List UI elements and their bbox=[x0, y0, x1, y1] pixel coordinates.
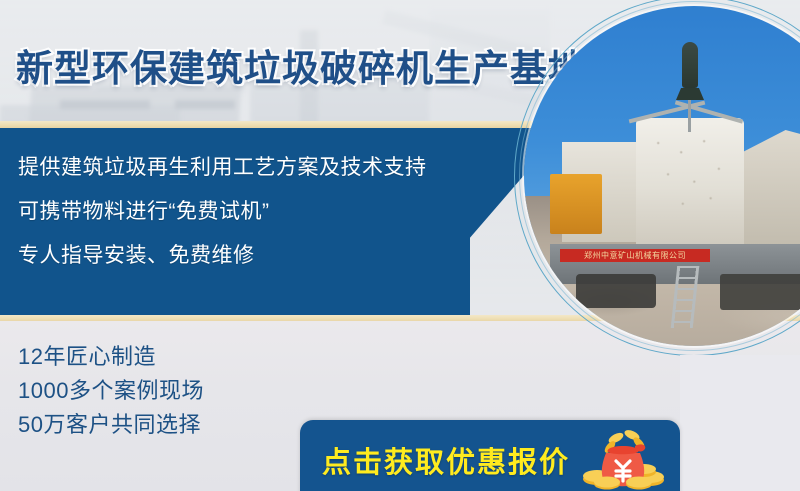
subtitle-line-2: 可携带物料进行“免费试机” bbox=[18, 190, 538, 234]
feature-line-3: 50万客户共同选择 bbox=[18, 408, 204, 442]
feature-list: 12年匠心制造 1000多个案例现场 50万客户共同选择 bbox=[18, 340, 204, 442]
get-quote-button-label: 点击获取优惠报价 bbox=[322, 439, 570, 481]
machine-mast bbox=[688, 98, 691, 132]
money-bag-icon bbox=[580, 429, 666, 491]
subtitle-list: 提供建筑垃圾再生利用工艺方案及技术支持 可携带物料进行“免费试机” 专人指导安装… bbox=[18, 146, 538, 278]
product-photo-circle: 郑州中意矿山机械有限公司 bbox=[524, 6, 800, 346]
right-background-fill bbox=[680, 355, 800, 491]
subtitle-line-3: 专人指导安装、免费维修 bbox=[18, 234, 538, 278]
get-quote-button[interactable]: 点击获取优惠报价 bbox=[300, 420, 680, 491]
machine-company-banner: 郑州中意矿山机械有限公司 bbox=[560, 249, 710, 262]
feature-line-2: 1000多个案例现场 bbox=[18, 374, 204, 408]
machine-exhaust-stack bbox=[682, 42, 698, 88]
machine-shadow-left bbox=[576, 274, 656, 308]
page-title: 新型环保建筑垃圾破碎机生产基地 bbox=[16, 38, 586, 92]
promo-banner: 新型环保建筑垃圾破碎机生产基地 提供建筑垃圾再生利用工艺方案及技术支持 可携带物… bbox=[0, 0, 800, 491]
title-container: 新型环保建筑垃圾破碎机生产基地 bbox=[16, 38, 586, 92]
subtitle-line-1: 提供建筑垃圾再生利用工艺方案及技术支持 bbox=[18, 146, 538, 190]
machine-shadow-right bbox=[720, 274, 800, 310]
feature-line-1: 12年匠心制造 bbox=[18, 340, 204, 374]
machine-orange-box bbox=[550, 174, 602, 234]
machine-company-banner-text: 郑州中意矿山机械有限公司 bbox=[560, 249, 710, 262]
machine-main-body bbox=[636, 118, 744, 246]
